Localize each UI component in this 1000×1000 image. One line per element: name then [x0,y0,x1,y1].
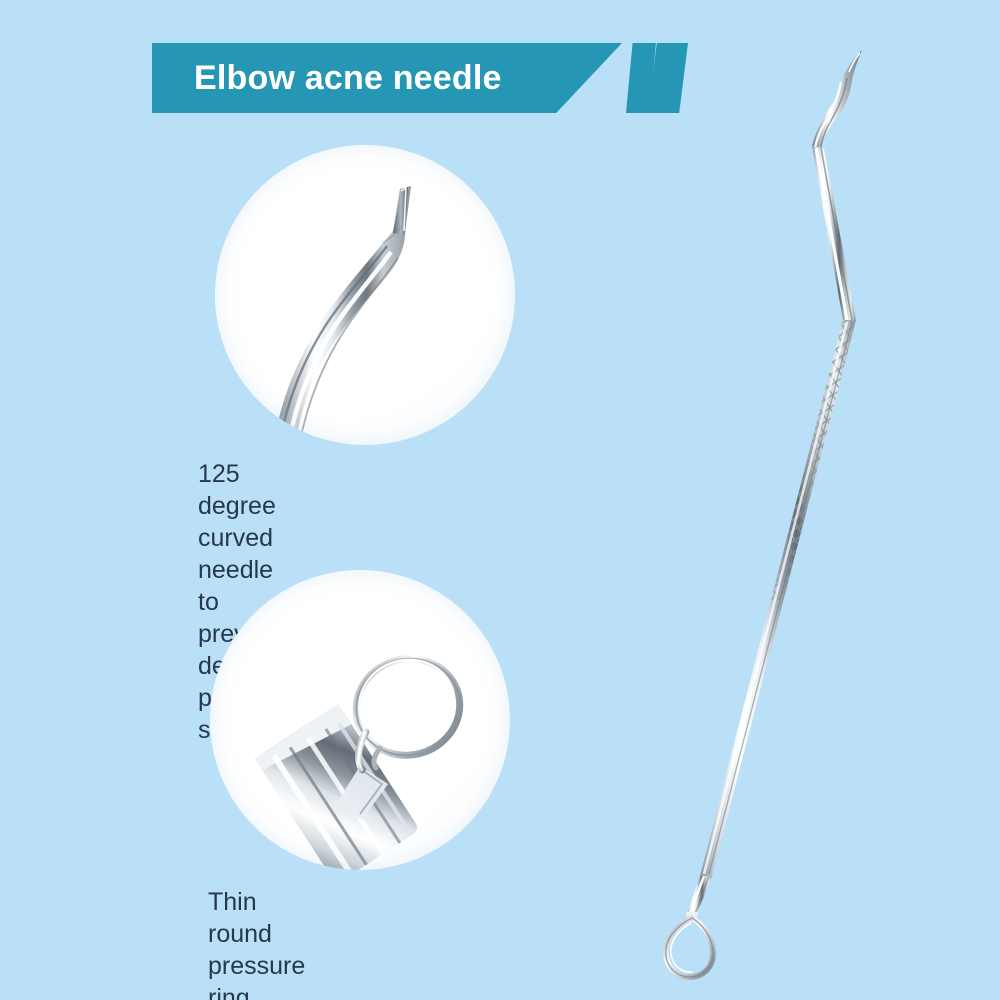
bottom-pressure-ring [666,918,713,977]
pressure-ring-illustration [210,570,510,870]
page-title: Elbow acne needle [152,61,502,95]
banner-main-shape: Elbow acne needle [152,43,622,113]
needle-upper-shaft [812,146,856,320]
curved-needle-tip-photo [215,145,515,445]
pressure-ring-photo [210,570,510,870]
feature-caption-pressure-ring: Thin round pressure ring, easy to clean … [208,886,305,1000]
infographic-canvas: Elbow acne needle [0,0,1000,1000]
knurled-handle [660,310,890,876]
curved-needle-illustration [215,145,515,445]
product-image-main [600,20,960,980]
needle-lower-shaft [686,876,712,920]
needle-tip-group [812,50,862,148]
acne-needle-tool-illustration [600,20,960,980]
